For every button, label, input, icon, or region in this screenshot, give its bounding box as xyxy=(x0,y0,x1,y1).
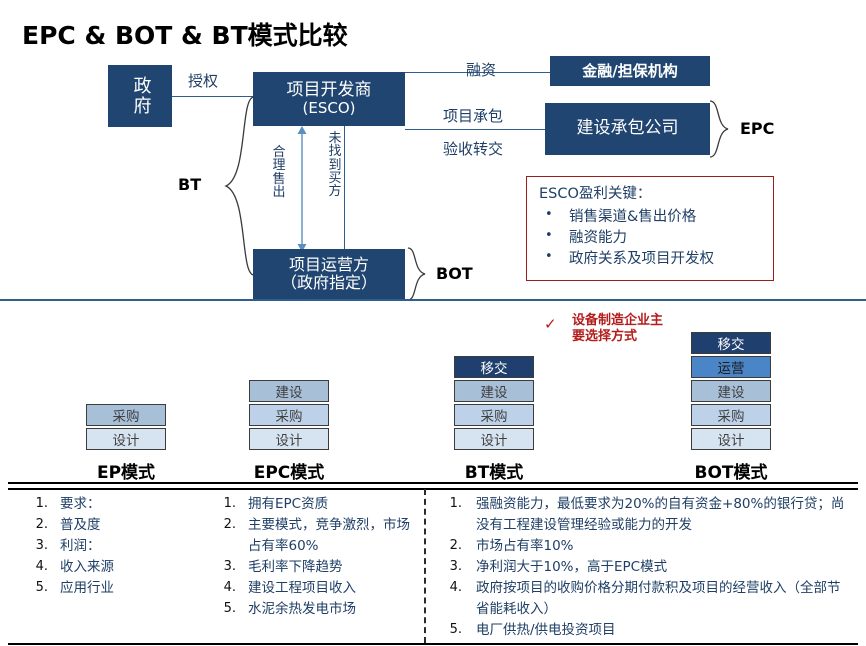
list-item-number: 3. xyxy=(436,557,462,577)
list-item: 4.建设工程项目收入 xyxy=(212,578,417,599)
mode-layer[interactable]: 采购 xyxy=(691,404,771,426)
mode-name-epc: EPC模式 xyxy=(248,458,330,483)
finance-institution-box[interactable]: 金融/担保机构 xyxy=(550,56,710,86)
project-operator-label-sub: （政府指定） xyxy=(281,274,377,292)
list-item-number: 4. xyxy=(436,578,462,598)
table-top-border xyxy=(8,482,858,484)
list-item-text: 净利润大于10%，高于EPC模式 xyxy=(476,559,667,575)
table-column-ep: 1.要求： 2.普及度 3.利润： 4.收入来源 5.应用行业 xyxy=(24,494,204,599)
mode-layer[interactable]: 设计 xyxy=(454,428,534,450)
epc-brace-icon xyxy=(708,100,734,158)
mode-layer[interactable]: 建设 xyxy=(691,380,771,402)
sell-reasonably-label: 合理售出 xyxy=(272,146,286,199)
financing-label: 融资 xyxy=(466,59,496,80)
list-item-number: 4. xyxy=(24,557,48,577)
no-buyer-label: 未找到买方 xyxy=(328,132,342,198)
list-item-number: 2. xyxy=(436,536,462,556)
list-item-text: 政府按项目的收购价格分期付款积及项目的经营收入（全部节省能耗收入） xyxy=(476,580,841,617)
list-item-text: 强融资能力，最低要求为20%的自有资金+80%的银行贷；尚没有工程建设管理经验或… xyxy=(476,496,844,533)
slide-canvas: EPC & BOT & BT模式比较 政府 授权 项目开发商 (ESCO) 融资… xyxy=(0,0,866,646)
gov-box[interactable]: 政府 xyxy=(108,65,172,127)
page-title: EPC & BOT & BT模式比较 xyxy=(22,16,348,52)
esco-key-item: 销售渠道&售出价格 xyxy=(539,207,763,228)
mode-layer[interactable]: 设计 xyxy=(691,428,771,450)
gov-box-label: 政府 xyxy=(131,76,150,116)
table-bottom-border xyxy=(8,643,858,645)
list-item: 2.普及度 xyxy=(24,515,204,536)
sell-reasonably-arrow xyxy=(296,126,308,252)
list-item-number: 3. xyxy=(24,536,48,556)
mode-layer[interactable]: 建设 xyxy=(249,380,329,402)
bt-tag: BT xyxy=(178,175,201,194)
mode-name-bt: BT模式 xyxy=(453,458,535,483)
list-item-text: 拥有EPC资质 xyxy=(248,496,328,512)
list-item-text: 市场占有率10% xyxy=(476,538,574,554)
mode-layer[interactable]: 移交 xyxy=(454,356,534,378)
list-item-text: 水泥余热发电市场 xyxy=(248,601,356,617)
list-item: 4.收入来源 xyxy=(24,557,204,578)
mode-stack-ep: 设计 采购 xyxy=(85,404,167,452)
contract-label: 项目承包 xyxy=(443,105,503,126)
list-item-number: 5. xyxy=(436,620,462,640)
list-item-number: 1. xyxy=(212,494,236,514)
list-item: 5.水泥余热发电市场 xyxy=(212,599,417,620)
table-header-border xyxy=(8,488,858,490)
bt-brace-icon xyxy=(222,96,256,276)
list-item: 1.要求： xyxy=(24,494,204,515)
mode-layer[interactable]: 设计 xyxy=(86,428,166,450)
list-item-text: 要求： xyxy=(60,496,101,512)
annotation-text: 设备制造企业主 要选择方式 xyxy=(572,313,663,346)
project-operator-box[interactable]: 项目运营方 （政府指定） xyxy=(253,249,405,299)
mode-name-ep: EP模式 xyxy=(85,458,167,483)
list-item-text: 应用行业 xyxy=(60,580,114,596)
esco-key-item: 融资能力 xyxy=(539,228,763,249)
bot-brace-icon xyxy=(406,247,430,301)
list-item: 1.拥有EPC资质 xyxy=(212,494,417,515)
no-buyer-connector xyxy=(344,126,345,252)
list-item: 4.政府按项目的收购价格分期付款积及项目的经营收入（全部节省能耗收入） xyxy=(436,578,848,620)
list-item-number: 4. xyxy=(212,578,236,598)
section-divider xyxy=(0,299,866,301)
list-item-text: 主要模式，竞争激烈，市场占有率60% xyxy=(248,517,410,554)
list-item-text: 电厂供热/供电投资项目 xyxy=(476,622,616,638)
contract-connector xyxy=(405,129,545,130)
mode-layer[interactable]: 移交 xyxy=(691,332,771,354)
list-item-text: 收入来源 xyxy=(60,559,114,575)
annotation-line-1: 设备制造企业主 xyxy=(572,313,663,329)
check-icon: ✓ xyxy=(544,315,557,333)
construction-contractor-label: 建设承包公司 xyxy=(577,119,679,138)
mode-layer[interactable]: 建设 xyxy=(454,380,534,402)
list-item: 3.净利润大于10%，高于EPC模式 xyxy=(436,557,848,578)
mode-stack-bt: 设计 采购 建设 移交 xyxy=(453,356,535,452)
finance-institution-label: 金融/担保机构 xyxy=(582,63,677,80)
esco-box[interactable]: 项目开发商 (ESCO) xyxy=(253,72,405,126)
annotation-line-2: 要选择方式 xyxy=(572,329,663,345)
list-item: 5.应用行业 xyxy=(24,578,204,599)
esco-box-label-main: 项目开发商 xyxy=(287,81,372,100)
esco-box-label-sub: (ESCO) xyxy=(303,100,356,117)
list-item: 3.毛利率下降趋势 xyxy=(212,557,417,578)
esco-key-item: 政府关系及项目开发权 xyxy=(539,249,763,270)
table-column-divider xyxy=(424,489,426,643)
acceptance-label: 验收转交 xyxy=(443,138,503,159)
mode-name-bot: BOT模式 xyxy=(690,458,772,483)
list-item-text: 毛利率下降趋势 xyxy=(248,559,343,575)
authorize-label: 授权 xyxy=(188,70,218,91)
list-item-number: 3. xyxy=(212,557,236,577)
list-item: 5.电厂供热/供电投资项目 xyxy=(436,620,848,641)
list-item-number: 1. xyxy=(436,494,462,514)
bot-tag: BOT xyxy=(436,264,473,283)
list-item: 2.主要模式，竞争激烈，市场占有率60% xyxy=(212,515,417,557)
list-item-text: 利润： xyxy=(60,538,101,554)
list-item: 1.强融资能力，最低要求为20%的自有资金+80%的银行贷；尚没有工程建设管理经… xyxy=(436,494,848,536)
construction-contractor-box[interactable]: 建设承包公司 xyxy=(545,103,710,155)
mode-stack-epc: 设计 采购 建设 xyxy=(248,380,330,452)
list-item-number: 5. xyxy=(212,599,236,619)
mode-layer[interactable]: 采购 xyxy=(454,404,534,426)
epc-tag: EPC xyxy=(740,119,774,138)
esco-key-list: 销售渠道&售出价格 融资能力 政府关系及项目开发权 xyxy=(539,207,763,270)
list-item: 3.利润： xyxy=(24,536,204,557)
esco-key-header: ESCO盈利关键： xyxy=(539,184,763,205)
list-item-number: 2. xyxy=(212,515,236,535)
mode-layer[interactable]: 设计 xyxy=(249,428,329,450)
project-operator-label-main: 项目运营方 xyxy=(289,256,369,274)
list-item: 2.市场占有率10% xyxy=(436,536,848,557)
mode-stack-bot: 设计 采购 建设 运营 移交 xyxy=(690,332,772,452)
esco-key-box: ESCO盈利关键： 销售渠道&售出价格 融资能力 政府关系及项目开发权 xyxy=(526,176,774,281)
mode-layer[interactable]: 运营 xyxy=(691,356,771,378)
list-item-number: 1. xyxy=(24,494,48,514)
mode-layer[interactable]: 采购 xyxy=(249,404,329,426)
table-column-bt-bot: 1.强融资能力，最低要求为20%的自有资金+80%的银行贷；尚没有工程建设管理经… xyxy=(436,494,848,640)
list-item-text: 建设工程项目收入 xyxy=(248,580,356,596)
list-item-text: 普及度 xyxy=(60,517,101,533)
list-item-number: 5. xyxy=(24,578,48,598)
list-item-number: 2. xyxy=(24,515,48,535)
table-column-epc: 1.拥有EPC资质 2.主要模式，竞争激烈，市场占有率60% 3.毛利率下降趋势… xyxy=(212,494,417,620)
mode-layer[interactable]: 采购 xyxy=(86,404,166,426)
